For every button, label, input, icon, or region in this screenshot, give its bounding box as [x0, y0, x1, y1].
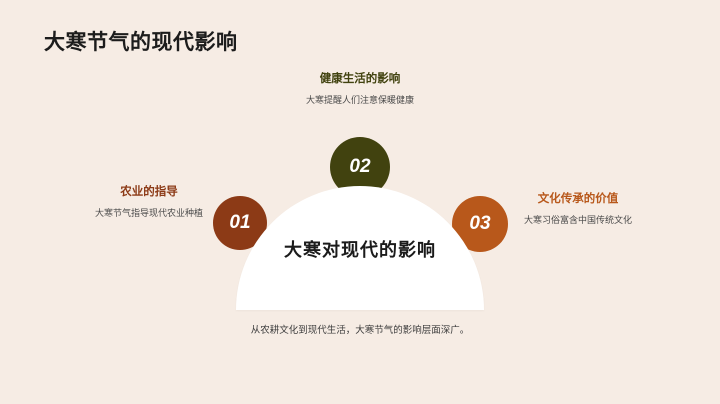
- node-number-03: 03: [469, 213, 490, 235]
- node-desc-02: 大寒提醒人们注意保暖健康: [288, 93, 432, 106]
- slide-canvas: 大寒节气的现代影响 农业的指导 大寒节气指导现代农业种植 健康生活的影响 大寒提…: [0, 0, 720, 404]
- center-label: 大寒对现代的影响: [236, 236, 484, 262]
- footer-note: 从农耕文化到现代生活，大寒节气的影响层面深广。: [160, 322, 560, 336]
- node-heading-01: 农业的指导: [88, 183, 210, 199]
- node-heading-02: 健康生活的影响: [288, 70, 432, 86]
- node-label-01: 农业的指导 大寒节气指导现代农业种植: [88, 183, 210, 219]
- node-heading-03: 文化传承的价值: [513, 190, 643, 206]
- node-desc-01: 大寒节气指导现代农业种植: [88, 206, 210, 219]
- node-desc-03: 大寒习俗富含中国传统文化: [513, 213, 643, 226]
- node-label-02: 健康生活的影响 大寒提醒人们注意保暖健康: [288, 70, 432, 106]
- node-number-02: 02: [349, 156, 370, 178]
- page-title: 大寒节气的现代影响: [44, 26, 238, 56]
- node-number-01: 01: [229, 212, 250, 234]
- node-label-03: 文化传承的价值 大寒习俗富含中国传统文化: [513, 190, 643, 226]
